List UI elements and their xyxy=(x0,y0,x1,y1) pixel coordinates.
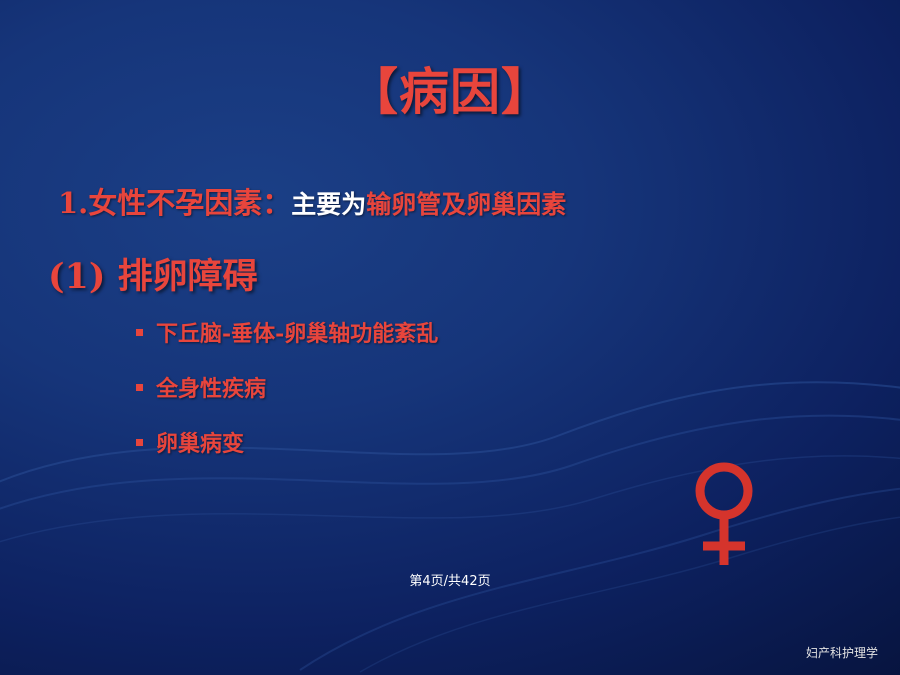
list-item-label: 卵巢病变 xyxy=(156,426,244,458)
list-item-label: 全身性疾病 xyxy=(156,371,266,403)
slide-title: 【病因】 xyxy=(0,52,900,124)
list-item: 全身性疾病 xyxy=(136,371,438,403)
list-item: 卵巢病变 xyxy=(136,426,438,458)
presentation-slide: 【病因】 1.女性不孕因素：主要为输卵管及卵巢因素 (1) 排卵障碍 下丘脑-垂… xyxy=(0,0,900,675)
square-bullet-icon xyxy=(136,439,143,446)
footer-course-name: 妇产科护理学 xyxy=(806,644,878,661)
bullet-list: 下丘脑-垂体-卵巢轴功能紊乱 全身性疾病 卵巢病变 xyxy=(136,316,438,481)
decorative-swoosh xyxy=(0,340,900,675)
venus-female-symbol-icon xyxy=(684,461,764,569)
square-bullet-icon xyxy=(136,329,143,336)
female-infertility-factors-line: 1.女性不孕因素：主要为输卵管及卵巢因素 xyxy=(58,180,566,222)
female-infertility-heading: 1.女性不孕因素： xyxy=(58,186,291,220)
female-infertility-lead: 主要为 xyxy=(291,190,366,219)
list-item: 下丘脑-垂体-卵巢轴功能紊乱 xyxy=(136,316,438,348)
female-infertility-emphasis: 输卵管及卵巢因素 xyxy=(366,190,566,219)
list-item-label: 下丘脑-垂体-卵巢轴功能紊乱 xyxy=(156,316,438,348)
page-number: 第4页/共42页 xyxy=(0,570,900,589)
ovulation-disorder-subtitle: (1) 排卵障碍 xyxy=(48,248,258,299)
square-bullet-icon xyxy=(136,384,143,391)
